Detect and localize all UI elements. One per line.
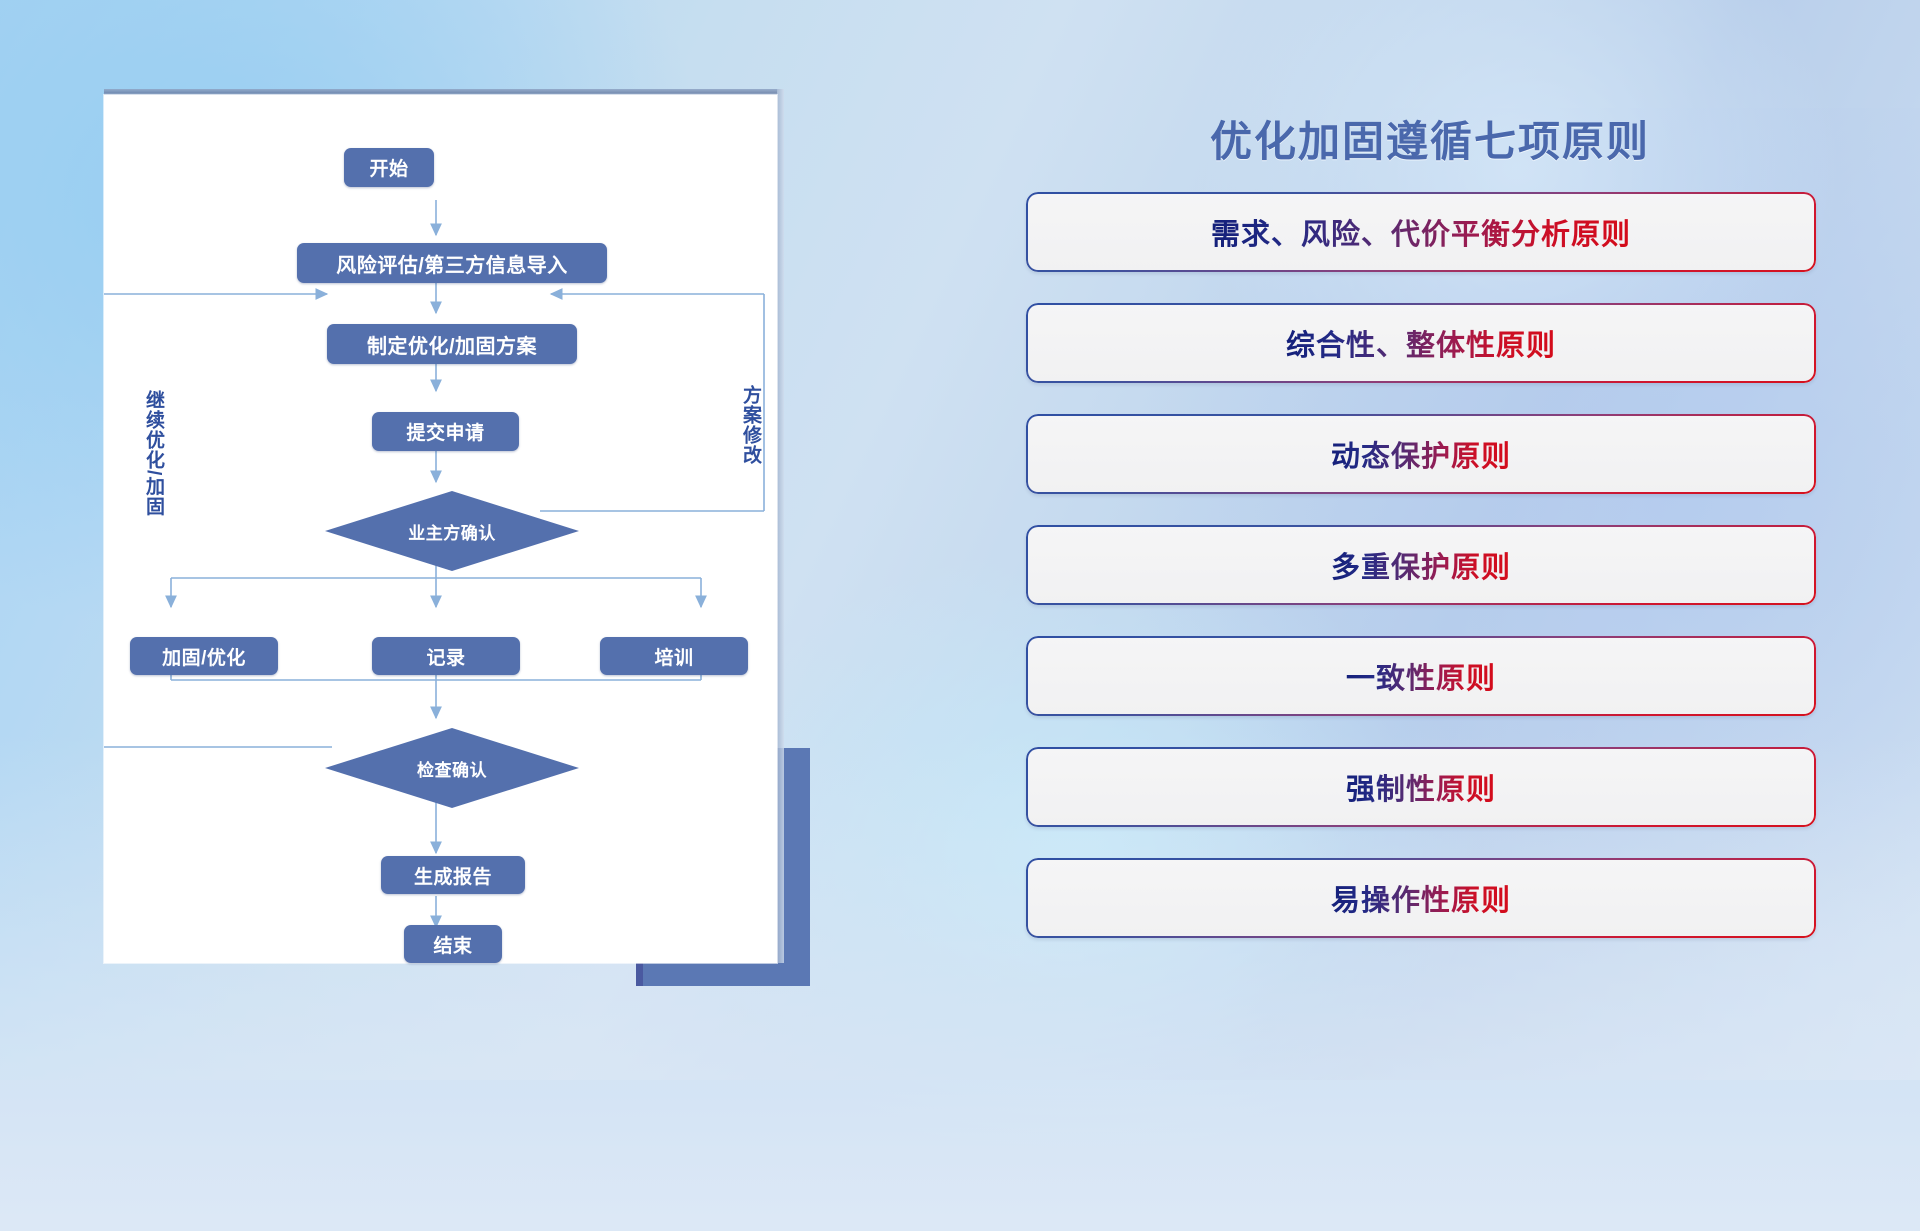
flow-node-owner-confirm[interactable]: 业主方确认 — [325, 491, 579, 571]
flow-node-label: 加固/优化 — [162, 643, 246, 670]
flow-node-label: 培训 — [654, 643, 693, 670]
flow-edge-label-plan-revision: 方案修改 — [737, 385, 764, 505]
flow-node-label: 结束 — [433, 931, 472, 958]
principle-card-7[interactable]: 易操作性原则 — [1026, 858, 1816, 938]
principle-label: 多重保护原则 — [1331, 544, 1511, 586]
principles-panel: 优化加固遵循七项原则 需求、风险、代价平衡分析原则 综合性、整体性原则 动态保护… — [1020, 80, 1830, 1020]
flow-node-end[interactable]: 结束 — [404, 925, 502, 963]
principle-label: 需求、风险、代价平衡分析原则 — [1211, 211, 1631, 253]
flow-node-label: 提交申请 — [406, 418, 484, 445]
flow-node-inspection-confirm[interactable]: 检查确认 — [325, 728, 579, 808]
flow-node-start[interactable]: 开始 — [344, 148, 434, 187]
flow-edge-label-continue-optimize: 继续优化/加固 — [140, 390, 167, 550]
flow-node-generate-report[interactable]: 生成报告 — [381, 856, 525, 894]
flow-node-submit-application[interactable]: 提交申请 — [372, 412, 519, 451]
flow-node-label: 生成报告 — [414, 862, 492, 889]
flow-node-label: 制定优化/加固方案 — [367, 330, 537, 359]
flow-node-label: 业主方确认 — [408, 519, 496, 544]
principle-label: 综合性、整体性原则 — [1286, 322, 1556, 364]
principle-label: 动态保护原则 — [1331, 433, 1511, 475]
panel-title: 优化加固遵循七项原则 — [1150, 108, 1710, 169]
principle-card-1[interactable]: 需求、风险、代价平衡分析原则 — [1026, 192, 1816, 272]
flow-node-harden-optimize[interactable]: 加固/优化 — [130, 637, 278, 675]
principle-card-6[interactable]: 强制性原则 — [1026, 747, 1816, 827]
flow-node-label: 风险评估/第三方信息导入 — [336, 249, 568, 278]
flow-node-label: 记录 — [426, 643, 465, 670]
principle-card-5[interactable]: 一致性原则 — [1026, 636, 1816, 716]
principle-label: 强制性原则 — [1346, 766, 1496, 808]
flow-card-right-bar — [777, 89, 784, 963]
principle-label: 一致性原则 — [1346, 655, 1496, 697]
flow-node-risk-assessment[interactable]: 风险评估/第三方信息导入 — [297, 243, 607, 283]
principle-label: 易操作性原则 — [1331, 877, 1511, 919]
flow-node-make-plan[interactable]: 制定优化/加固方案 — [327, 324, 577, 364]
principle-card-2[interactable]: 综合性、整体性原则 — [1026, 303, 1816, 383]
flow-node-training[interactable]: 培训 — [600, 637, 748, 675]
principle-card-3[interactable]: 动态保护原则 — [1026, 414, 1816, 494]
flow-node-label: 开始 — [369, 154, 408, 181]
flow-node-record[interactable]: 记录 — [372, 637, 520, 675]
flow-node-label: 检查确认 — [417, 756, 487, 781]
principle-card-4[interactable]: 多重保护原则 — [1026, 525, 1816, 605]
principles-list: 需求、风险、代价平衡分析原则 综合性、整体性原则 动态保护原则 多重保护原则 一… — [1026, 192, 1816, 969]
